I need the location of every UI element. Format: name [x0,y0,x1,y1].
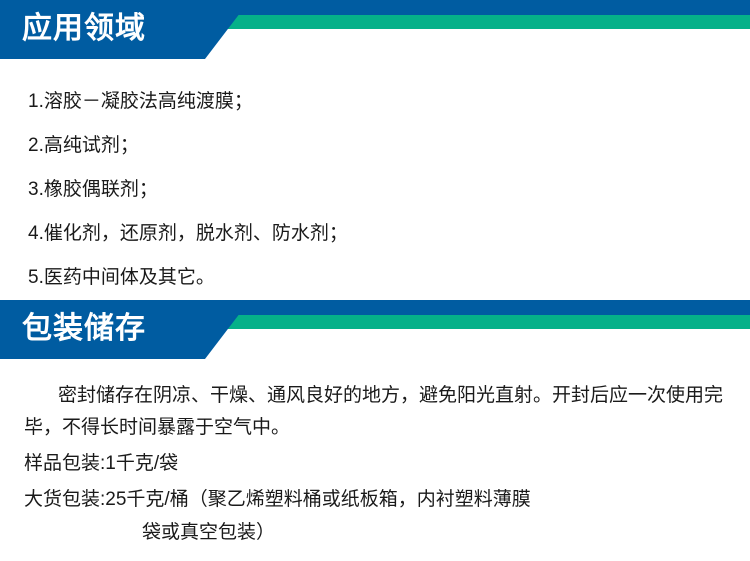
list-item: 2.高纯试剂； [28,124,750,168]
list-item: 4.催化剂，还原剂，脱水剂、防水剂； [28,212,750,256]
storage-instructions-paragraph: 密封储存在阴凉、干燥、通风良好的地方，避免阳光直射。开封后应一次使用完毕，不得长… [24,380,724,444]
section-title-packaging-storage: 包装储存 [22,308,146,350]
sample-package-line: 样品包装:1千克/袋 [24,444,724,483]
section-title-application-areas: 应用领域 [22,8,146,50]
product-spec-page: 应用领域 1.溶胶－凝胶法高纯渡膜； 2.高纯试剂； 3.橡胶偶联剂； 4.催化… [0,0,750,561]
section-body-packaging-storage: 密封储存在阴凉、干燥、通风良好的地方，避免阳光直射。开封后应一次使用完毕，不得长… [0,360,750,549]
application-areas-list: 1.溶胶－凝胶法高纯渡膜； 2.高纯试剂； 3.橡胶偶联剂； 4.催化剂，还原剂… [0,60,750,300]
section-banner-packaging-storage: 包装储存 [0,300,750,360]
bulk-package-line-1: 大货包装:25千克/桶（聚乙烯塑料桶或纸板箱，内衬塑料薄膜 [24,483,724,516]
bulk-package-line-2: 袋或真空包装） [24,516,724,549]
section-banner-application-areas: 应用领域 [0,0,750,60]
list-item: 3.橡胶偶联剂； [28,168,750,212]
list-item: 5.医药中间体及其它。 [28,256,750,300]
section-body-application-areas: 1.溶胶－凝胶法高纯渡膜； 2.高纯试剂； 3.橡胶偶联剂； 4.催化剂，还原剂… [0,60,750,300]
list-item: 1.溶胶－凝胶法高纯渡膜； [28,80,750,124]
